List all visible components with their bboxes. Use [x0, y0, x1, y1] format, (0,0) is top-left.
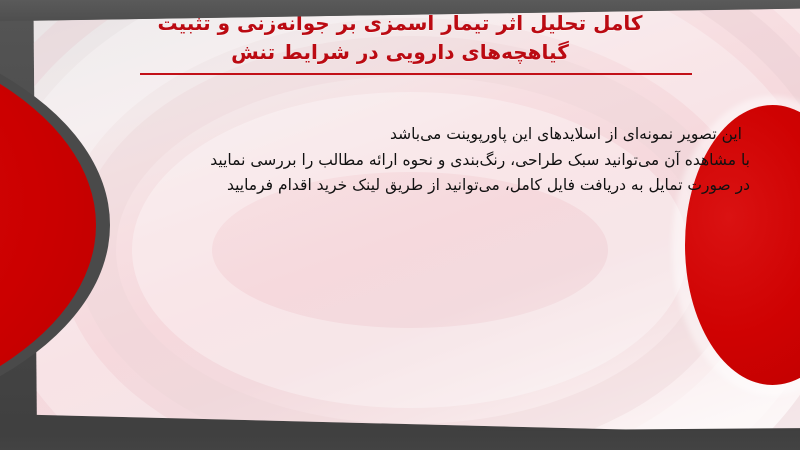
body-line-2: با مشاهده آن می‌توانید سبک طراحی، رنگ‌بن… [60, 148, 750, 174]
body-line-3: در صورت تمایل به دریافت فایل کامل، می‌تو… [60, 173, 750, 199]
slide-body-text: این تصویر نمونه‌ای از اسلایدهای این پاور… [60, 122, 750, 199]
title-line-2: گیاهچه‌های دارویی در شرایط تنش [0, 38, 800, 67]
presentation-slide: کامل تحلیل اثر تیمار اسمزی بر جوانه‌زنی … [0, 0, 800, 450]
title-underline-rule [140, 73, 692, 75]
slide-inner-page: کامل تحلیل اثر تیمار اسمزی بر جوانه‌زنی … [0, 0, 800, 450]
body-line-1: این تصویر نمونه‌ای از اسلایدهای این پاور… [60, 122, 750, 148]
